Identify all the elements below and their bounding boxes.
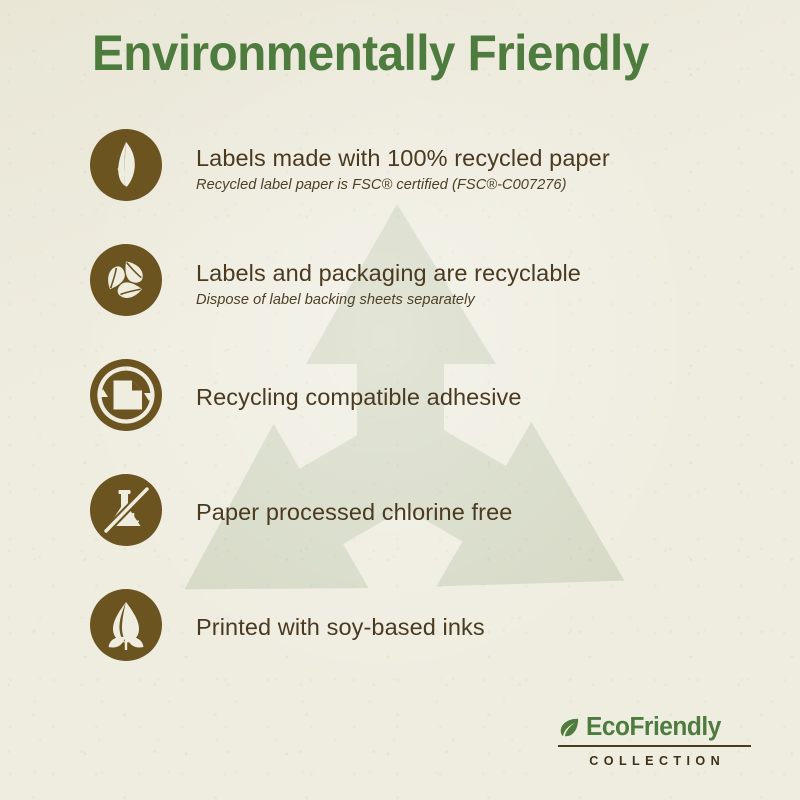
logo-wordmark: EcoFriendly <box>586 714 721 741</box>
feature-title: Labels and packaging are recyclable <box>196 258 756 288</box>
no-chlorine-flask-icon: CL <box>90 474 162 546</box>
feature-text: Labels and packaging are recyclable Disp… <box>196 258 756 310</box>
three-leaves-recycle-icon <box>90 244 162 316</box>
page-title: Environmentally Friendly <box>92 22 703 84</box>
feature-title: Printed with soy-based inks <box>196 612 756 642</box>
feature-subtitle: Dispose of label backing sheets separate… <box>196 291 756 310</box>
logo-wordmark-row: EcoFriendly <box>558 712 758 742</box>
feature-text: Printed with soy-based inks <box>196 612 756 642</box>
feature-text: Labels made with 100% recycled paper Rec… <box>196 143 756 195</box>
environmentally-friendly-poster: Environmentally Friendly Labels made wit… <box>0 0 800 800</box>
feature-text: Paper processed chlorine free <box>196 497 756 527</box>
feature-row: Printed with soy-based inks <box>0 589 800 704</box>
feature-title: Paper processed chlorine free <box>196 497 756 527</box>
feature-title: Labels made with 100% recycled paper <box>196 143 756 173</box>
feature-subtitle: Recycled label paper is FSC® certified (… <box>196 176 756 195</box>
logo-divider <box>558 745 751 747</box>
feature-row: CL Paper processed chlorine free <box>0 474 800 589</box>
soy-droplet-leaf-icon <box>90 589 162 661</box>
feature-text: Recycling compatible adhesive <box>196 382 756 412</box>
page-recycle-loop-icon <box>90 359 162 431</box>
feature-list: Labels made with 100% recycled paper Rec… <box>0 129 800 704</box>
feature-row: Labels and packaging are recyclable Disp… <box>0 244 800 359</box>
logo-subtitle: COLLECTION <box>558 754 751 768</box>
feature-title: Recycling compatible adhesive <box>196 382 756 412</box>
feature-row: Recycling compatible adhesive <box>0 359 800 474</box>
leaf-icon <box>558 716 580 738</box>
leaf-in-circle-icon <box>90 129 162 201</box>
feature-row: Labels made with 100% recycled paper Rec… <box>0 129 800 244</box>
ecofriendly-logo: EcoFriendly COLLECTION <box>558 712 758 768</box>
